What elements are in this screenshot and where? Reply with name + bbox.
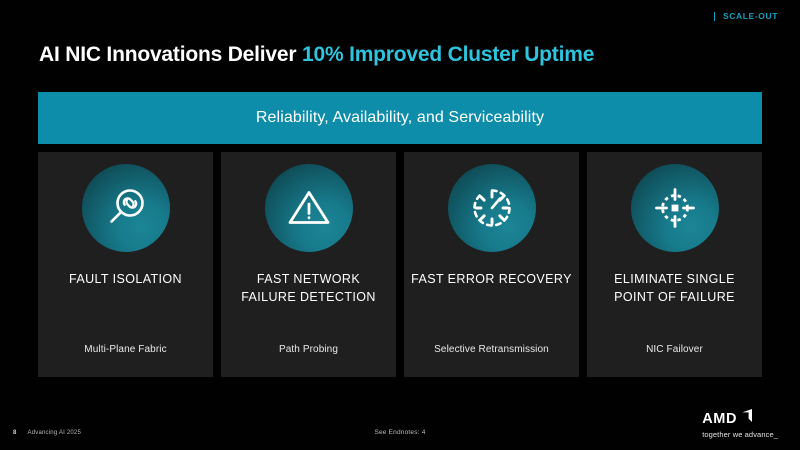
magnifier-link-icon	[82, 164, 170, 252]
warning-triangle-icon	[265, 164, 353, 252]
feature-card-title: ELIMINATE SINGLE POINT OF FAILURE	[594, 270, 755, 306]
kicker: SCALE-OUT	[714, 11, 778, 21]
amd-tagline: together we advance_	[702, 431, 778, 439]
page-title: AI NIC Innovations Deliver 10% Improved …	[39, 43, 594, 67]
section-banner: Reliability, Availability, and Serviceab…	[38, 92, 762, 144]
kicker-label: SCALE-OUT	[723, 11, 778, 21]
feature-card-subtitle: Multi-Plane Fabric	[38, 344, 213, 355]
amd-arrow-icon	[739, 409, 752, 426]
feature-card-subtitle: Path Probing	[221, 344, 396, 355]
kicker-divider-icon	[714, 12, 715, 21]
amd-wordmark: AMD	[702, 409, 778, 427]
feature-card[interactable]: ELIMINATE SINGLE POINT OF FAILURE NIC Fa…	[587, 152, 762, 377]
crosshair-target-icon	[631, 164, 719, 252]
amd-wordmark-text: AMD	[702, 412, 737, 427]
feature-card-title: FAST ERROR RECOVERY	[411, 270, 572, 288]
page-title-accent: 10% Improved Cluster Uptime	[302, 43, 594, 66]
feature-card-subtitle: Selective Retransmission	[404, 344, 579, 355]
page-title-lead: AI NIC Innovations Deliver	[39, 43, 296, 66]
feature-card-title: FAULT ISOLATION	[45, 270, 206, 288]
slide: SCALE-OUT AI NIC Innovations Deliver 10%…	[0, 0, 800, 450]
feature-card-grid: FAULT ISOLATION Multi-Plane Fabric FAST …	[38, 152, 762, 377]
feature-card[interactable]: FAST ERROR RECOVERY Selective Retransmis…	[404, 152, 579, 377]
stopwatch-icon	[448, 164, 536, 252]
feature-card[interactable]: FAULT ISOLATION Multi-Plane Fabric	[38, 152, 213, 377]
section-banner-label: Reliability, Availability, and Serviceab…	[256, 109, 544, 127]
feature-card-title: FAST NETWORK FAILURE DETECTION	[228, 270, 389, 306]
amd-logo: AMD together we advance_	[702, 409, 778, 438]
footer-endnotes: See Endnotes: 4	[0, 429, 800, 436]
feature-card[interactable]: FAST NETWORK FAILURE DETECTION Path Prob…	[221, 152, 396, 377]
feature-card-subtitle: NIC Failover	[587, 344, 762, 355]
